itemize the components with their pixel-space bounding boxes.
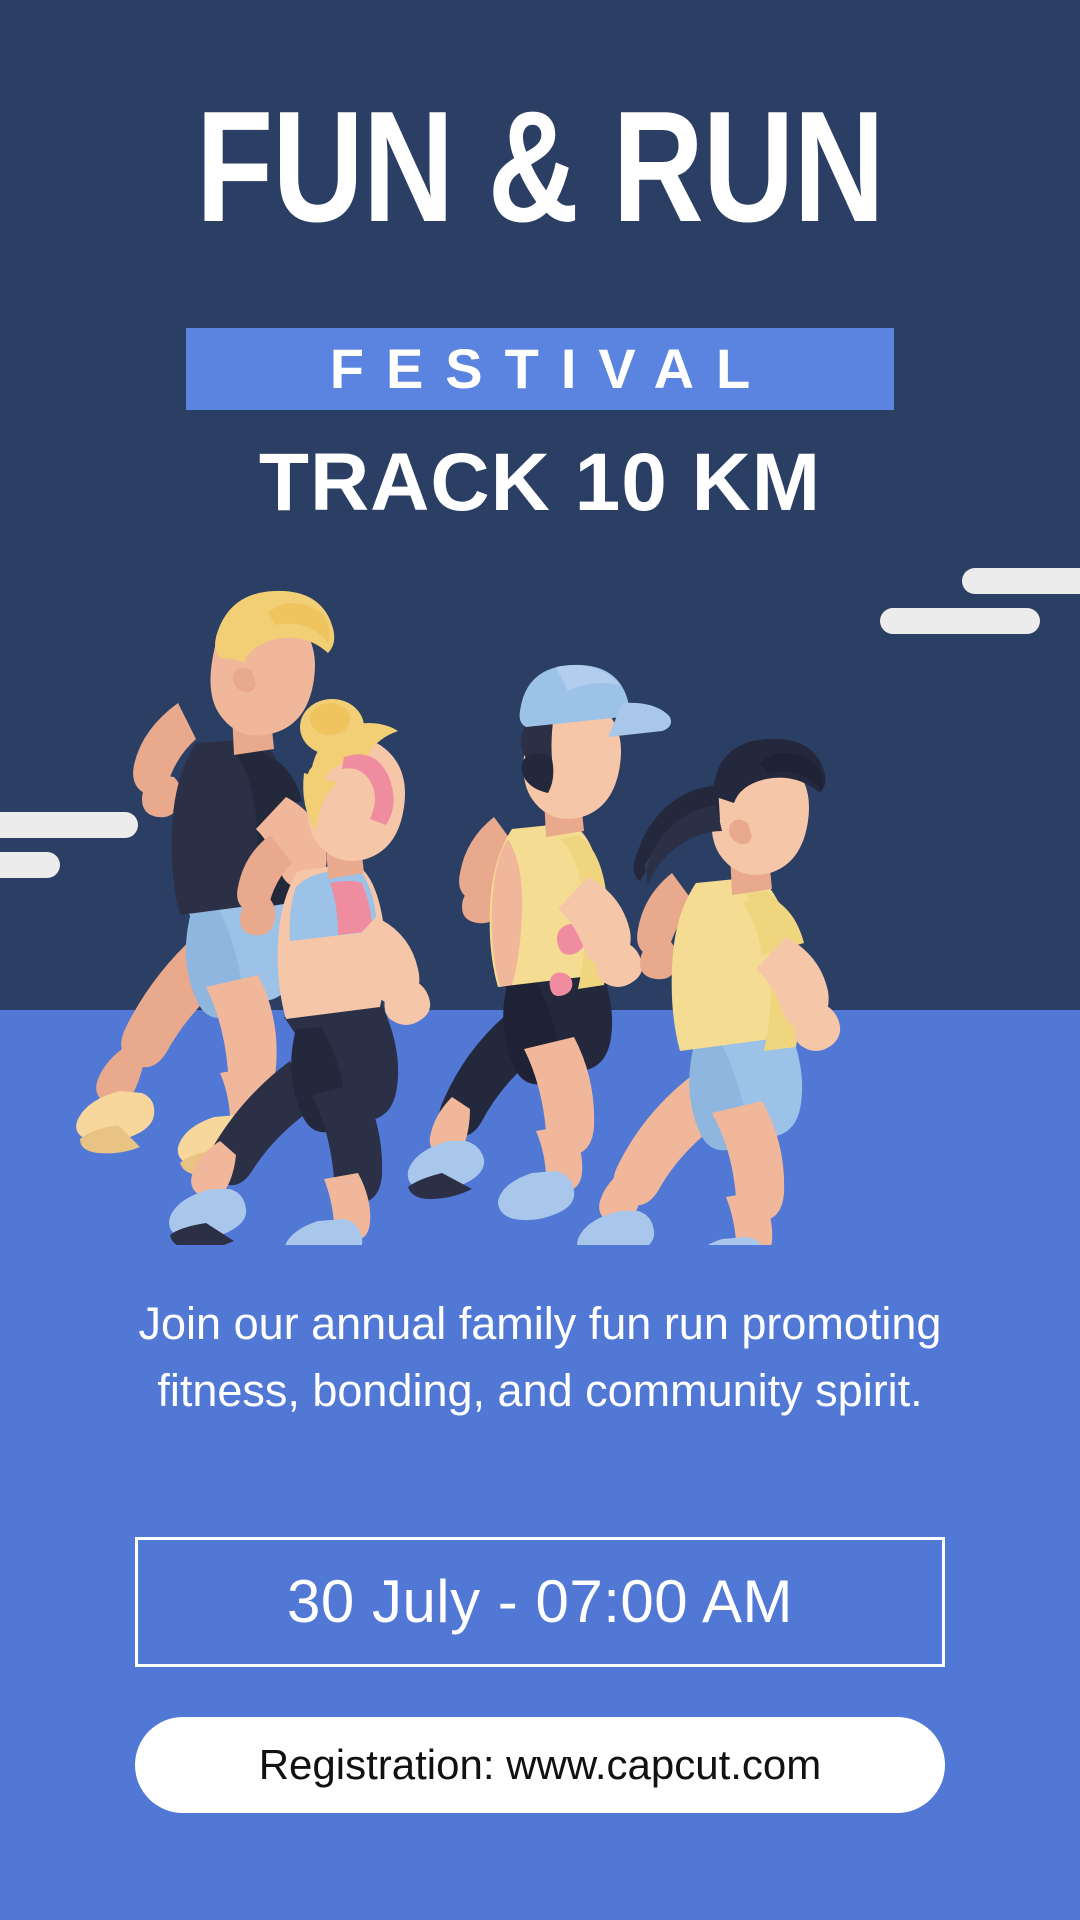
registration-label: Registration: www.capcut.com xyxy=(259,1744,822,1786)
registration-button[interactable]: Registration: www.capcut.com xyxy=(135,1717,945,1813)
runner-cap-yellow-tank xyxy=(408,665,671,1220)
festival-label: FESTIVAL xyxy=(308,341,773,397)
event-date-time: 30 July - 07:00 AM xyxy=(287,1572,793,1632)
description-text: Join our annual family fun run promoting… xyxy=(90,1290,990,1424)
runner-ponytail-yellow-tee xyxy=(577,739,840,1245)
event-date-box: 30 July - 07:00 AM xyxy=(135,1537,945,1667)
four-runners-illustration xyxy=(0,505,1080,1245)
poster-canvas: FUN & RUN FESTIVAL TRACK 10 KM xyxy=(0,0,1080,1920)
page-title: FUN & RUN xyxy=(108,92,972,242)
festival-banner: FESTIVAL xyxy=(186,328,894,410)
